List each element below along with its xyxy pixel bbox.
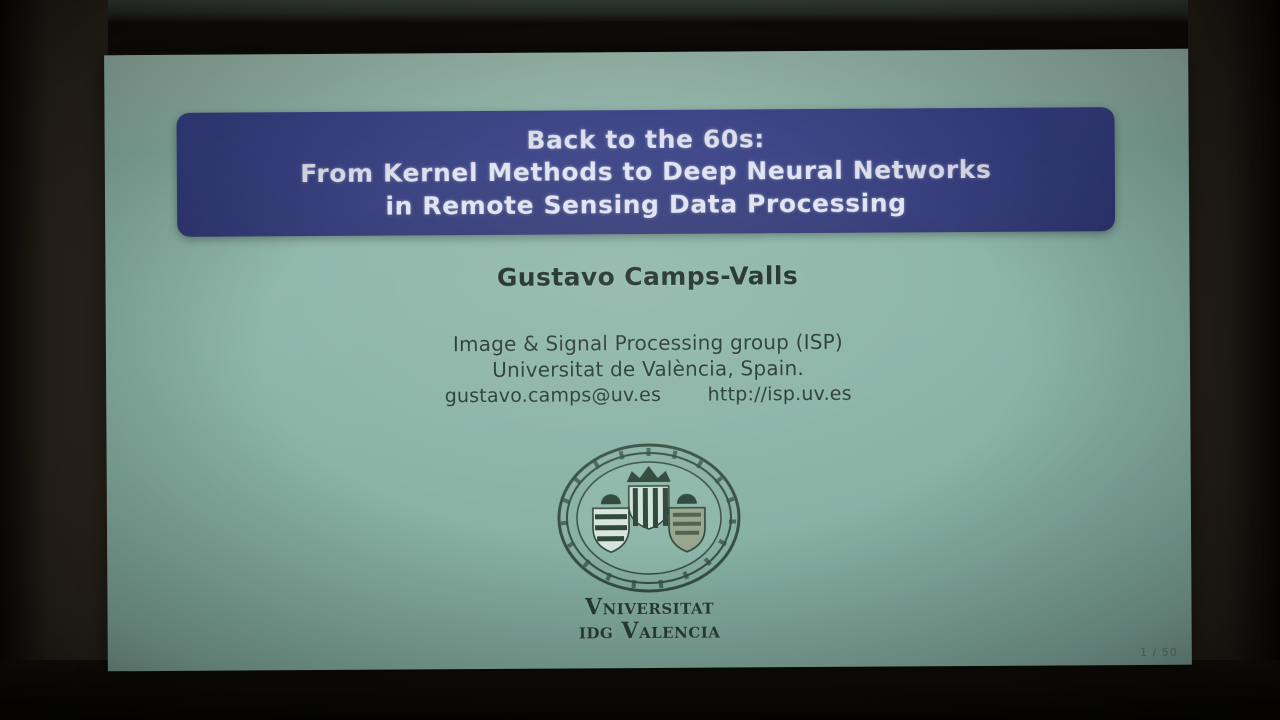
room-right-wall xyxy=(1188,0,1280,720)
seal-wordmark: Vniversitat idg Valencia xyxy=(579,596,721,644)
room-ceiling-band xyxy=(0,0,1280,22)
author-email: gustavo.camps@uv.es xyxy=(445,384,662,407)
presentation-slide: Back to the 60s: From Kernel Methods to … xyxy=(104,49,1192,672)
page-counter: 1 / 50 xyxy=(1140,646,1178,659)
seal-wordmark-line-1: Vniversitat xyxy=(579,596,721,621)
contact-line: gustavo.camps@uv.es http://isp.uv.es xyxy=(106,379,1190,411)
affiliation-block: Image & Signal Processing group (ISP) Un… xyxy=(106,327,1190,411)
group-website: http://isp.uv.es xyxy=(708,383,852,406)
slide-title-banner: Back to the 60s: From Kernel Methods to … xyxy=(176,107,1115,237)
title-line-3: in Remote Sensing Data Processing xyxy=(385,188,906,220)
lecture-room-scene: Back to the 60s: From Kernel Methods to … xyxy=(0,0,1280,720)
seal-emblem-icon xyxy=(555,441,744,594)
room-dark-band xyxy=(0,22,1280,52)
seal-wordmark-line-2: idg Valencia xyxy=(579,619,721,644)
university-seal: Vniversitat idg Valencia xyxy=(549,441,750,644)
title-line-2: From Kernel Methods to Deep Neural Netwo… xyxy=(300,155,991,188)
room-left-wall xyxy=(0,0,108,720)
title-line-1: Back to the 60s: xyxy=(526,124,765,155)
author-name: Gustavo Camps-Valls xyxy=(105,259,1189,295)
